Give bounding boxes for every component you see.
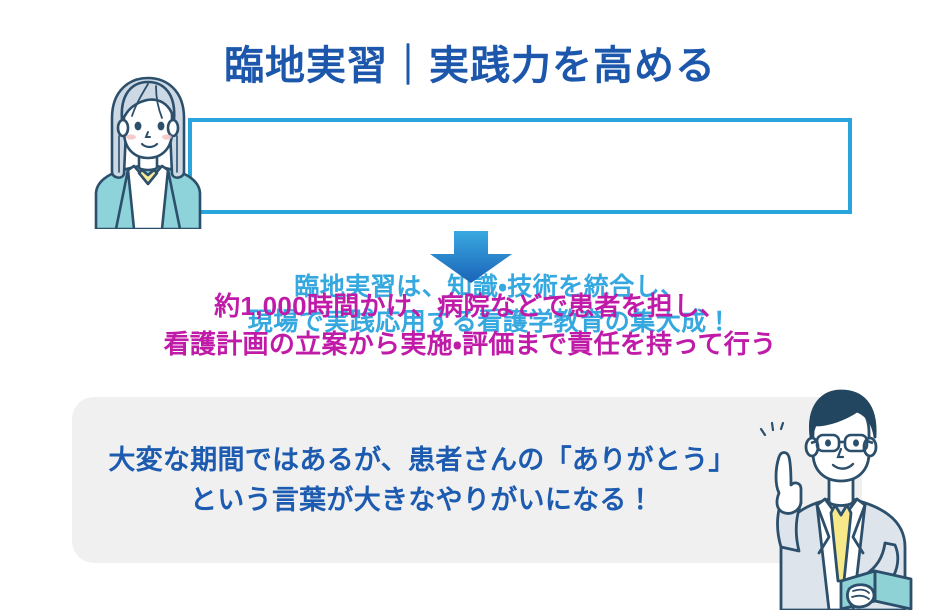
detail-text-line-1: 約1,000時間かけ、病院などで患者を担し、	[0, 288, 940, 326]
teacher-illustration	[745, 385, 937, 610]
detail-text-line-2: 看護計画の立案から実施・評価まで責任を持って行う	[0, 326, 940, 364]
conclusion-line-1: 大変な期間ではあるが、患者さんの「ありがとう」	[108, 440, 735, 481]
conclusion-line-2: という言葉が大きなやりがいになる！	[190, 480, 654, 521]
down-arrow-icon	[430, 231, 512, 283]
conclusion-panel-text: 大変な期間ではあるが、患者さんの「ありがとう」 という言葉が大きなやりがいになる…	[72, 397, 772, 563]
nursing-student-illustration	[86, 74, 211, 229]
infographic-slide: 臨地実習｜実践力を高める 臨地実習は、知識・技術を統合し、 現場で実践応用する看…	[0, 0, 940, 610]
detail-text: 約1,000時間かけ、病院などで患者を担し、 看護計画の立案から実施・評価まで責…	[0, 288, 940, 363]
